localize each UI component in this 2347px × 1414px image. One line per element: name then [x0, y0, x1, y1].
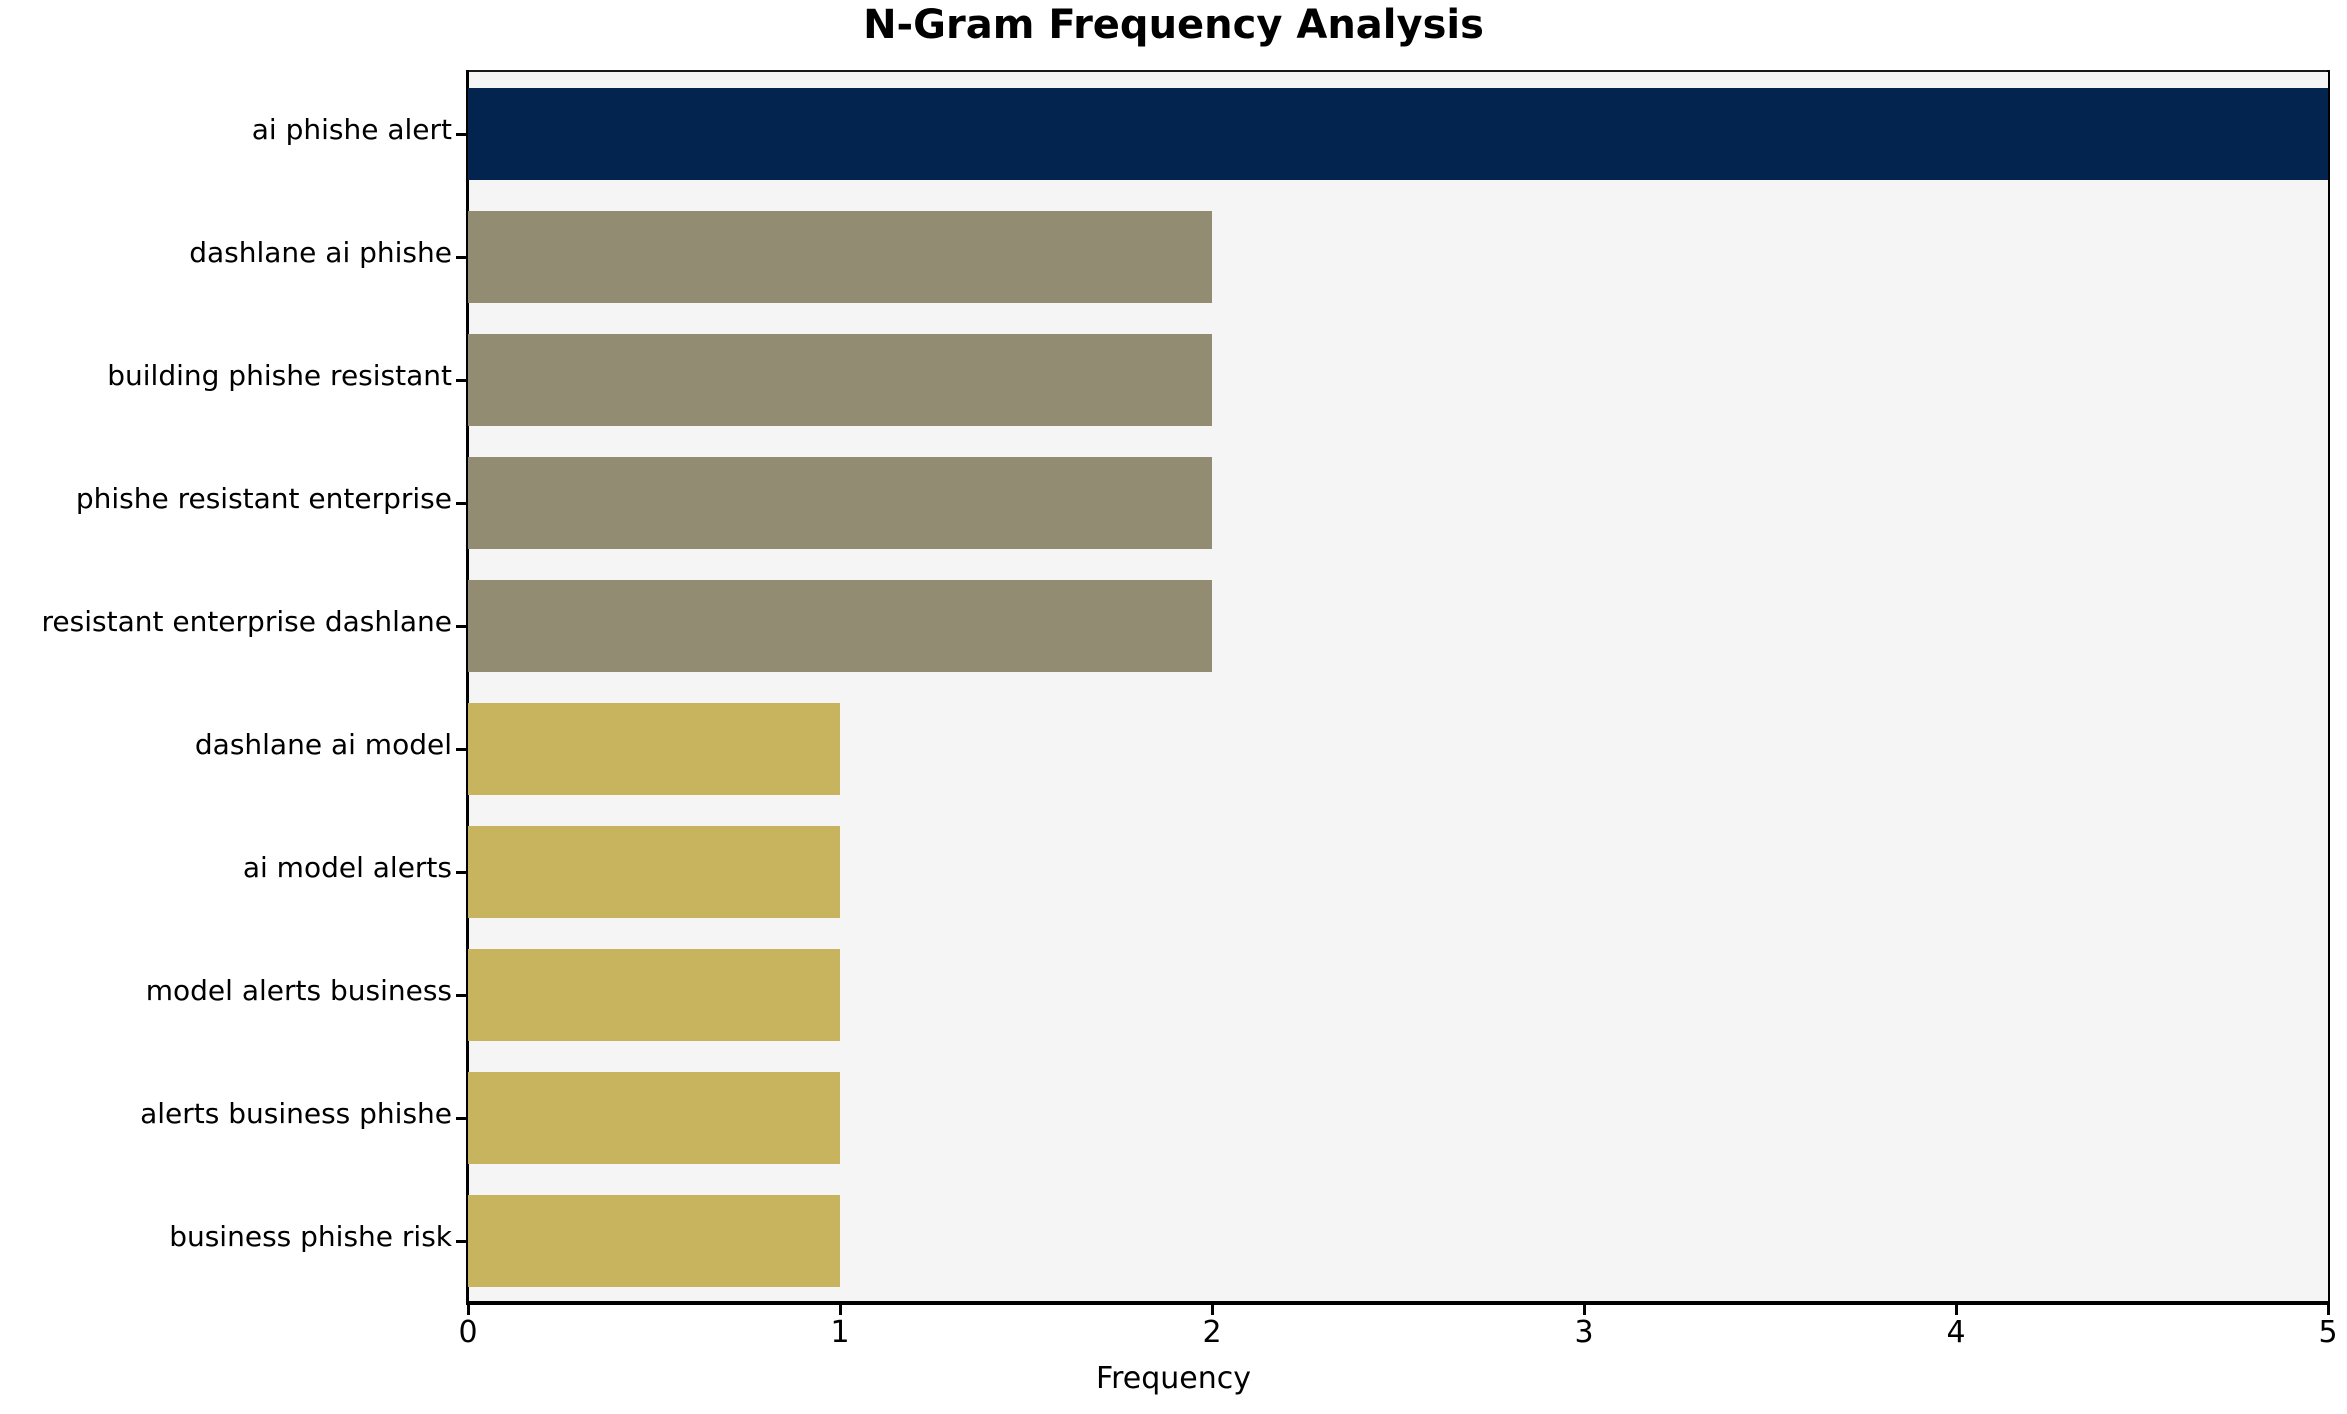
bar — [468, 334, 1212, 426]
x-tick-label: 4 — [1916, 1318, 1996, 1348]
y-tick-label: business phishe risk — [0, 1223, 452, 1251]
y-tick-label: model alerts business — [0, 977, 452, 1005]
y-tick-label: phishe resistant enterprise — [0, 485, 452, 513]
y-tick-mark — [456, 871, 466, 874]
chart-figure: N-Gram Frequency Analysis ai phishe aler… — [0, 0, 2347, 1414]
bar — [468, 88, 2328, 180]
y-tick-mark — [456, 748, 466, 751]
bar — [468, 826, 840, 918]
bar — [468, 457, 1212, 549]
x-tick-mark — [1583, 1304, 1586, 1315]
bar — [468, 580, 1212, 672]
page-title: N-Gram Frequency Analysis — [0, 2, 2347, 48]
bar — [468, 1195, 840, 1287]
y-tick-mark — [456, 994, 466, 997]
axis-spine-bottom — [466, 1301, 2330, 1305]
y-tick-label: ai phishe alert — [0, 116, 452, 144]
bar — [468, 1072, 840, 1164]
x-tick-mark — [467, 1304, 470, 1315]
x-tick-mark — [1211, 1304, 1214, 1315]
x-axis-label: Frequency — [0, 1361, 2347, 1396]
x-tick-label: 5 — [2288, 1318, 2347, 1348]
y-tick-label: building phishe resistant — [0, 362, 452, 390]
x-tick-label: 0 — [428, 1318, 508, 1348]
x-tick-label: 2 — [1172, 1318, 1252, 1348]
x-tick-mark — [1955, 1304, 1958, 1315]
y-tick-mark — [456, 379, 466, 382]
y-tick-mark — [456, 1117, 466, 1120]
x-tick-label: 1 — [800, 1318, 880, 1348]
y-tick-mark — [456, 133, 466, 136]
y-tick-label: alerts business phishe — [0, 1100, 452, 1128]
y-tick-mark — [456, 256, 466, 259]
x-tick-mark — [839, 1304, 842, 1315]
y-tick-label: ai model alerts — [0, 854, 452, 882]
y-tick-label: dashlane ai model — [0, 731, 452, 759]
y-tick-mark — [456, 502, 466, 505]
y-tick-label: dashlane ai phishe — [0, 239, 452, 267]
bar — [468, 211, 1212, 303]
x-tick-label: 3 — [1544, 1318, 1624, 1348]
y-tick-mark — [456, 1240, 466, 1243]
bar — [468, 703, 840, 795]
bar — [468, 949, 840, 1041]
y-tick-label: resistant enterprise dashlane — [0, 608, 452, 636]
x-tick-mark — [2327, 1304, 2330, 1315]
y-tick-mark — [456, 625, 466, 628]
